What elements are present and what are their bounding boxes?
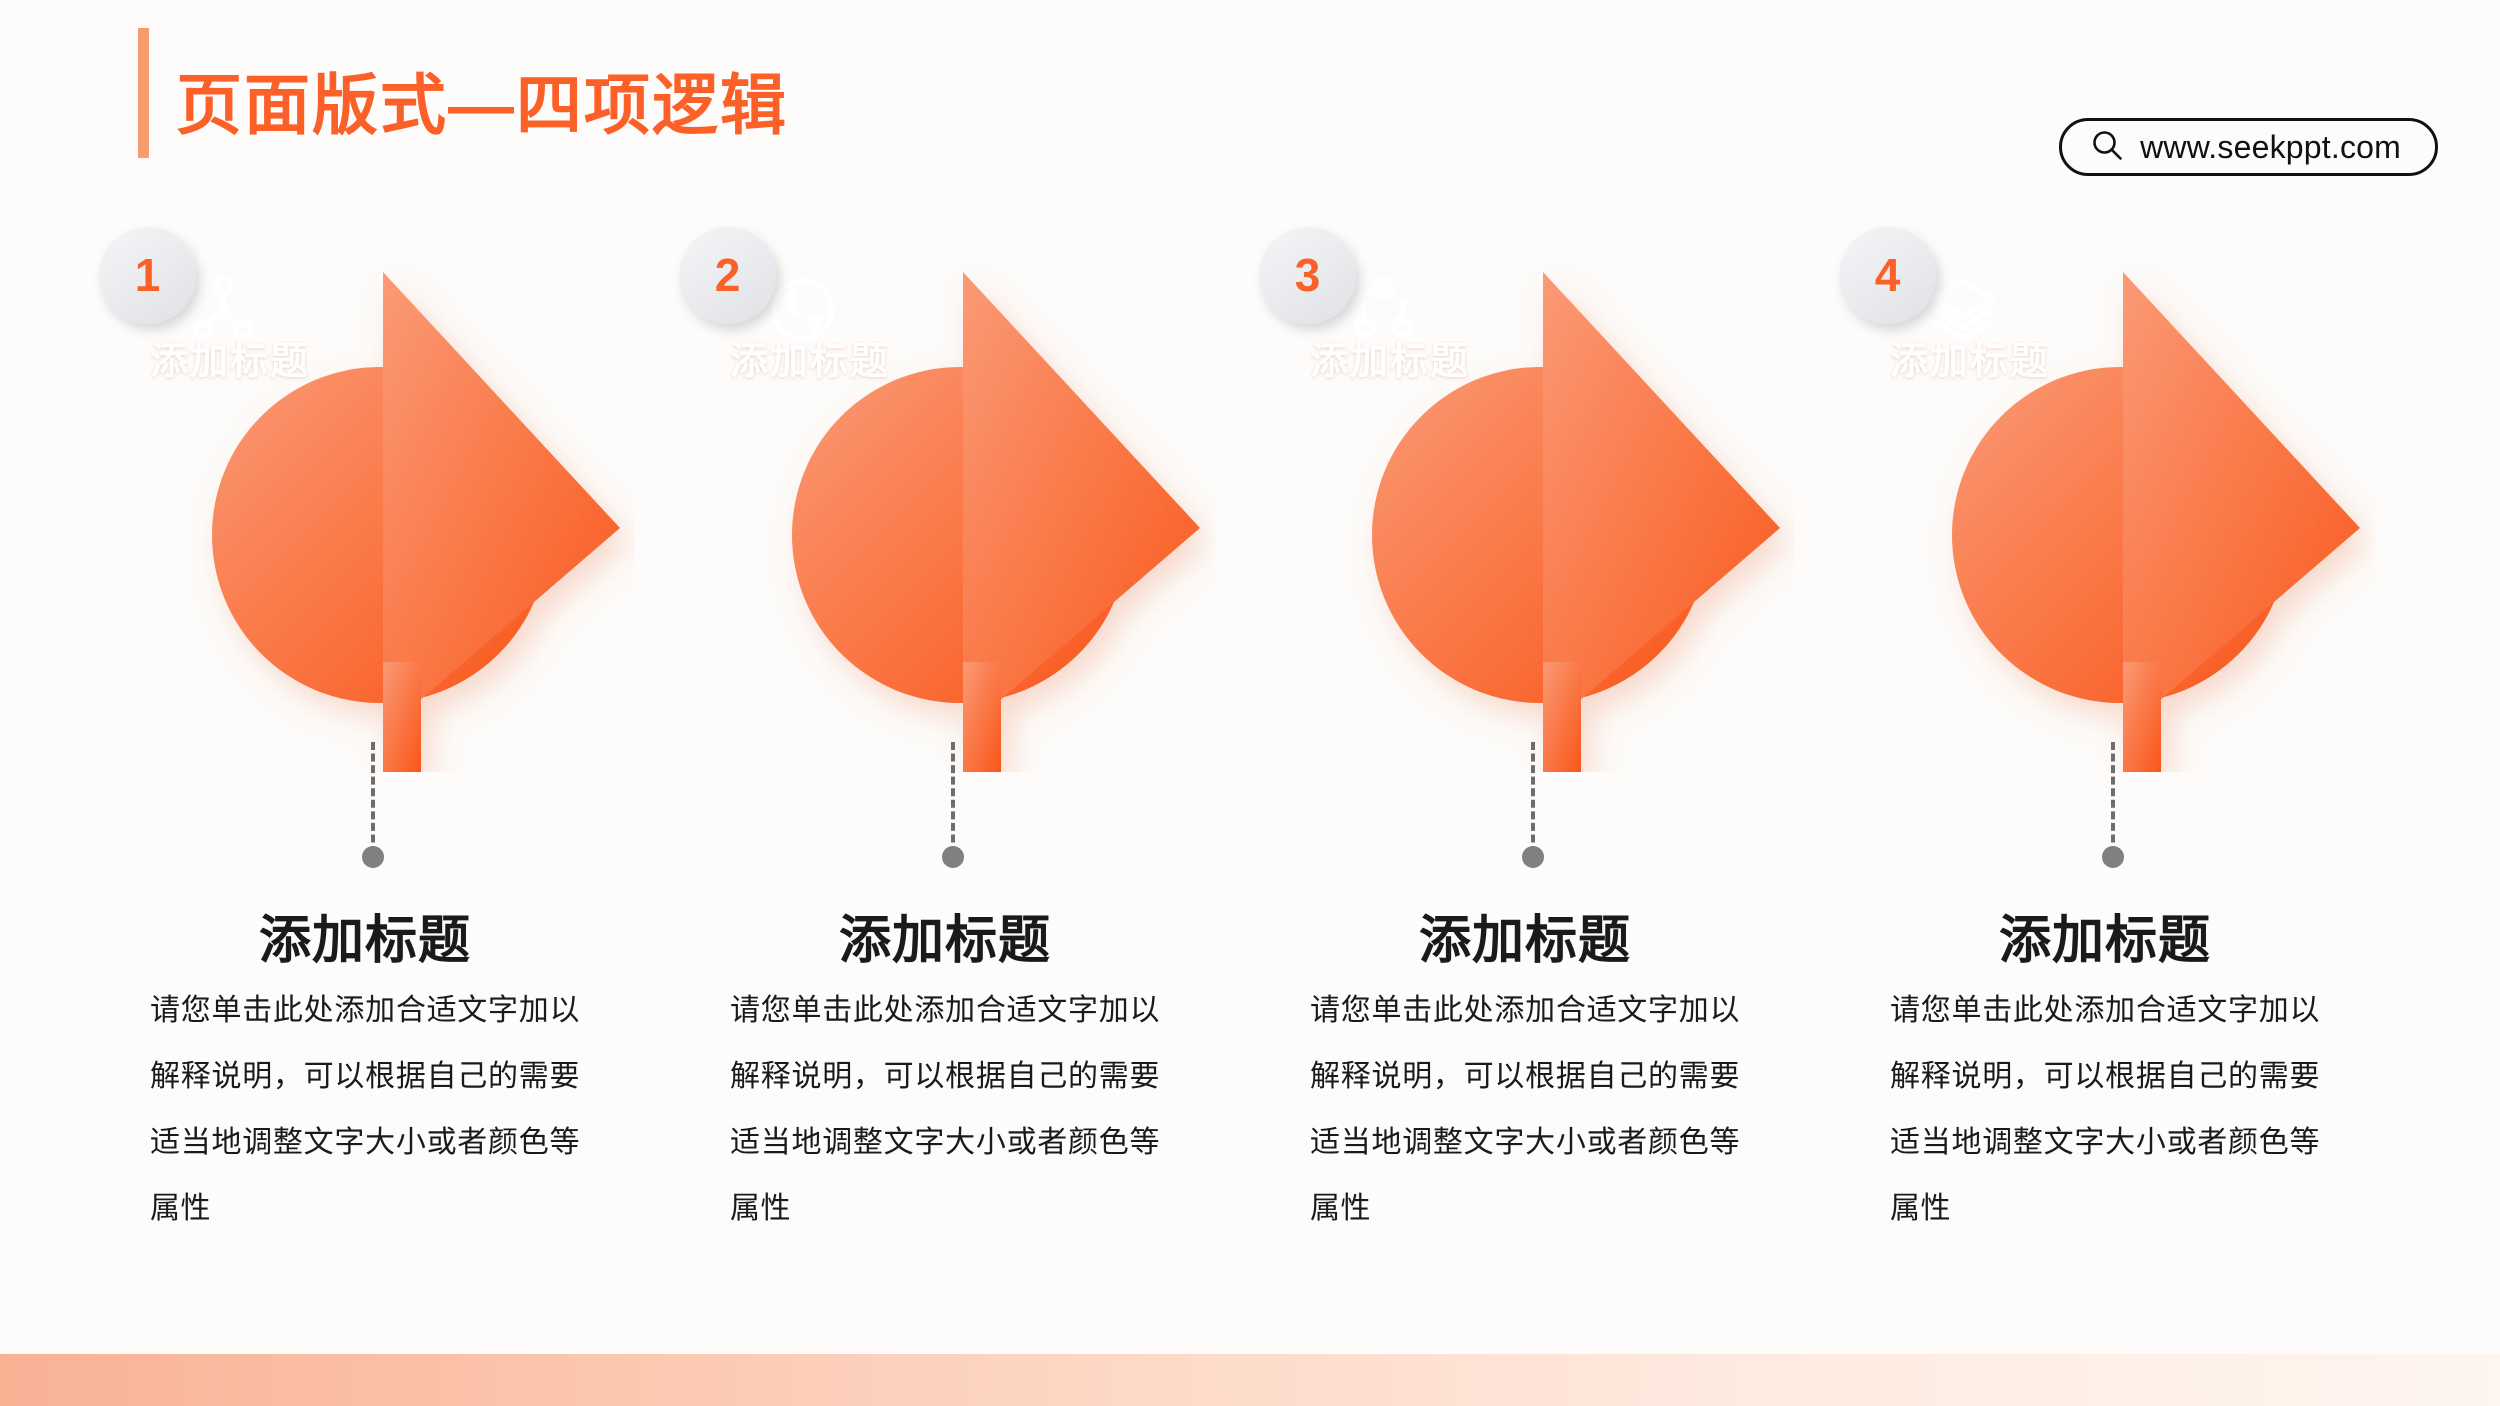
card-2[interactable]: 2 添加标题 添加标题 请您单击此处添加合适文字加以解释说明，可以根据自己的需要… — [580, 0, 1205, 1406]
card-inner-title-1: 添加标题 — [0, 330, 460, 385]
connector-dash — [371, 742, 375, 854]
card-body-text: 请您单击此处添加合适文字加以解释说明，可以根据自己的需要适当地调整文字大小或者颜… — [730, 978, 1160, 1242]
connector-dash — [1531, 742, 1535, 854]
step-number: 3 — [1295, 252, 1321, 298]
card-inner-title-2: 添加标题 — [580, 330, 1040, 385]
connector-dot — [942, 846, 964, 868]
step-badge-1: 1 — [99, 227, 196, 324]
card-3[interactable]: 3 添加标题 添加标题 请 — [1160, 0, 1785, 1406]
step-number: 4 — [1875, 252, 1901, 298]
connector-line-4 — [2111, 742, 2115, 870]
connector-dash — [2111, 742, 2115, 854]
connector-line-1 — [371, 742, 375, 870]
step-badge-2: 2 — [679, 227, 776, 324]
connector-line-3 — [1531, 742, 1535, 870]
card-body-text: 请您单击此处添加合适文字加以解释说明，可以根据自己的需要适当地调整文字大小或者颜… — [1890, 978, 2320, 1242]
step-badge-4: 4 — [1839, 227, 1936, 324]
step-badge-3: 3 — [1259, 227, 1356, 324]
card-heading-4: 添加标题 — [1740, 898, 2470, 973]
connector-dot — [362, 846, 384, 868]
card-body-text: 请您单击此处添加合适文字加以解释说明，可以根据自己的需要适当地调整文字大小或者颜… — [150, 978, 580, 1242]
card-1[interactable]: 1 添加标题 添 — [0, 0, 625, 1406]
step-number: 2 — [715, 252, 741, 298]
connector-dash — [951, 742, 955, 854]
card-inner-title-3: 添加标题 — [1160, 330, 1620, 385]
step-number: 1 — [135, 252, 161, 298]
cards-row: 1 添加标题 添 — [0, 0, 2500, 1406]
connector-dot — [1522, 846, 1544, 868]
card-4[interactable]: 4 添加标题 添加标题 请您单击此处添加合适文字加以解释说明，可以根据自己的需要… — [1740, 0, 2365, 1406]
card-inner-title-4: 添加标题 — [1740, 330, 2200, 385]
connector-line-2 — [951, 742, 955, 870]
connector-dot — [2102, 846, 2124, 868]
card-body-text: 请您单击此处添加合适文字加以解释说明，可以根据自己的需要适当地调整文字大小或者颜… — [1310, 978, 1740, 1242]
slide-canvas: 页面版式—四项逻辑 www.seekppt.com — [0, 0, 2500, 1406]
card-body-4: 请您单击此处添加合适文字加以解释说明，可以根据自己的需要适当地调整文字大小或者颜… — [1740, 978, 2470, 1242]
bottom-gradient-bar — [0, 1354, 2500, 1406]
